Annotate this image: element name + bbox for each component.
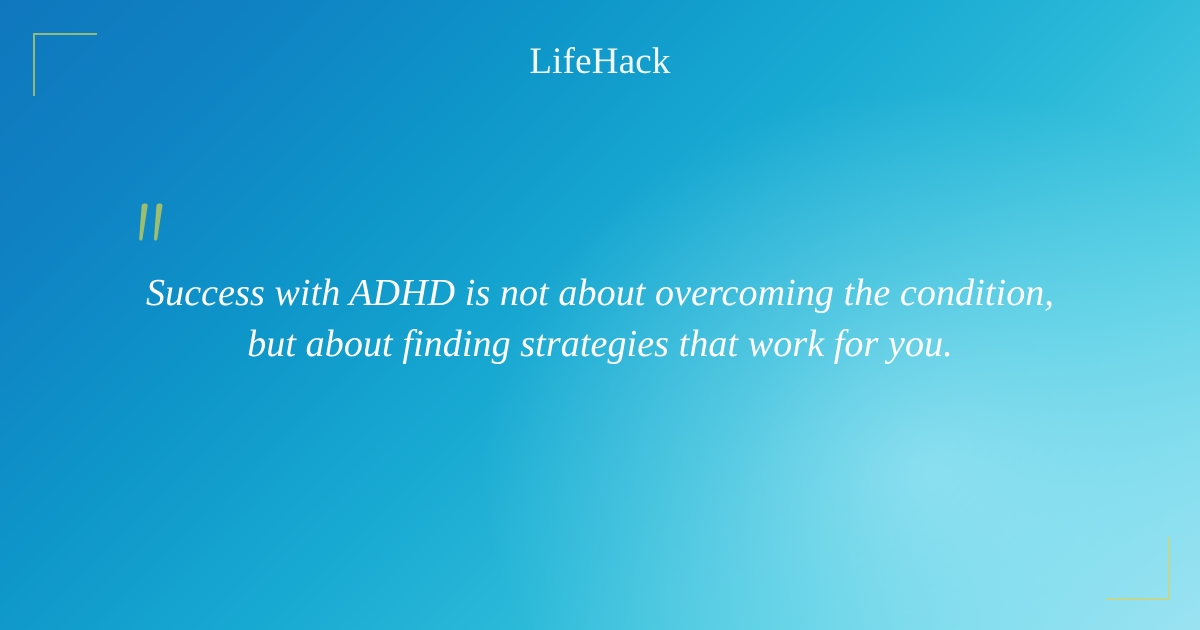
quote-line: but about finding strategies that work f… bbox=[90, 319, 1110, 370]
brand-logo[interactable]: LifeHack bbox=[0, 40, 1200, 84]
quotation-mark-icon bbox=[134, 203, 174, 245]
brand-logo-text: LifeHack bbox=[529, 40, 670, 84]
corner-bracket-bottom-right-icon bbox=[1106, 537, 1170, 600]
quote-card: LifeHack Success with ADHD is not about … bbox=[0, 0, 1200, 630]
quote-line: Success with ADHD is not about overcomin… bbox=[90, 268, 1110, 319]
quote-text-block: Success with ADHD is not about overcomin… bbox=[90, 268, 1110, 370]
